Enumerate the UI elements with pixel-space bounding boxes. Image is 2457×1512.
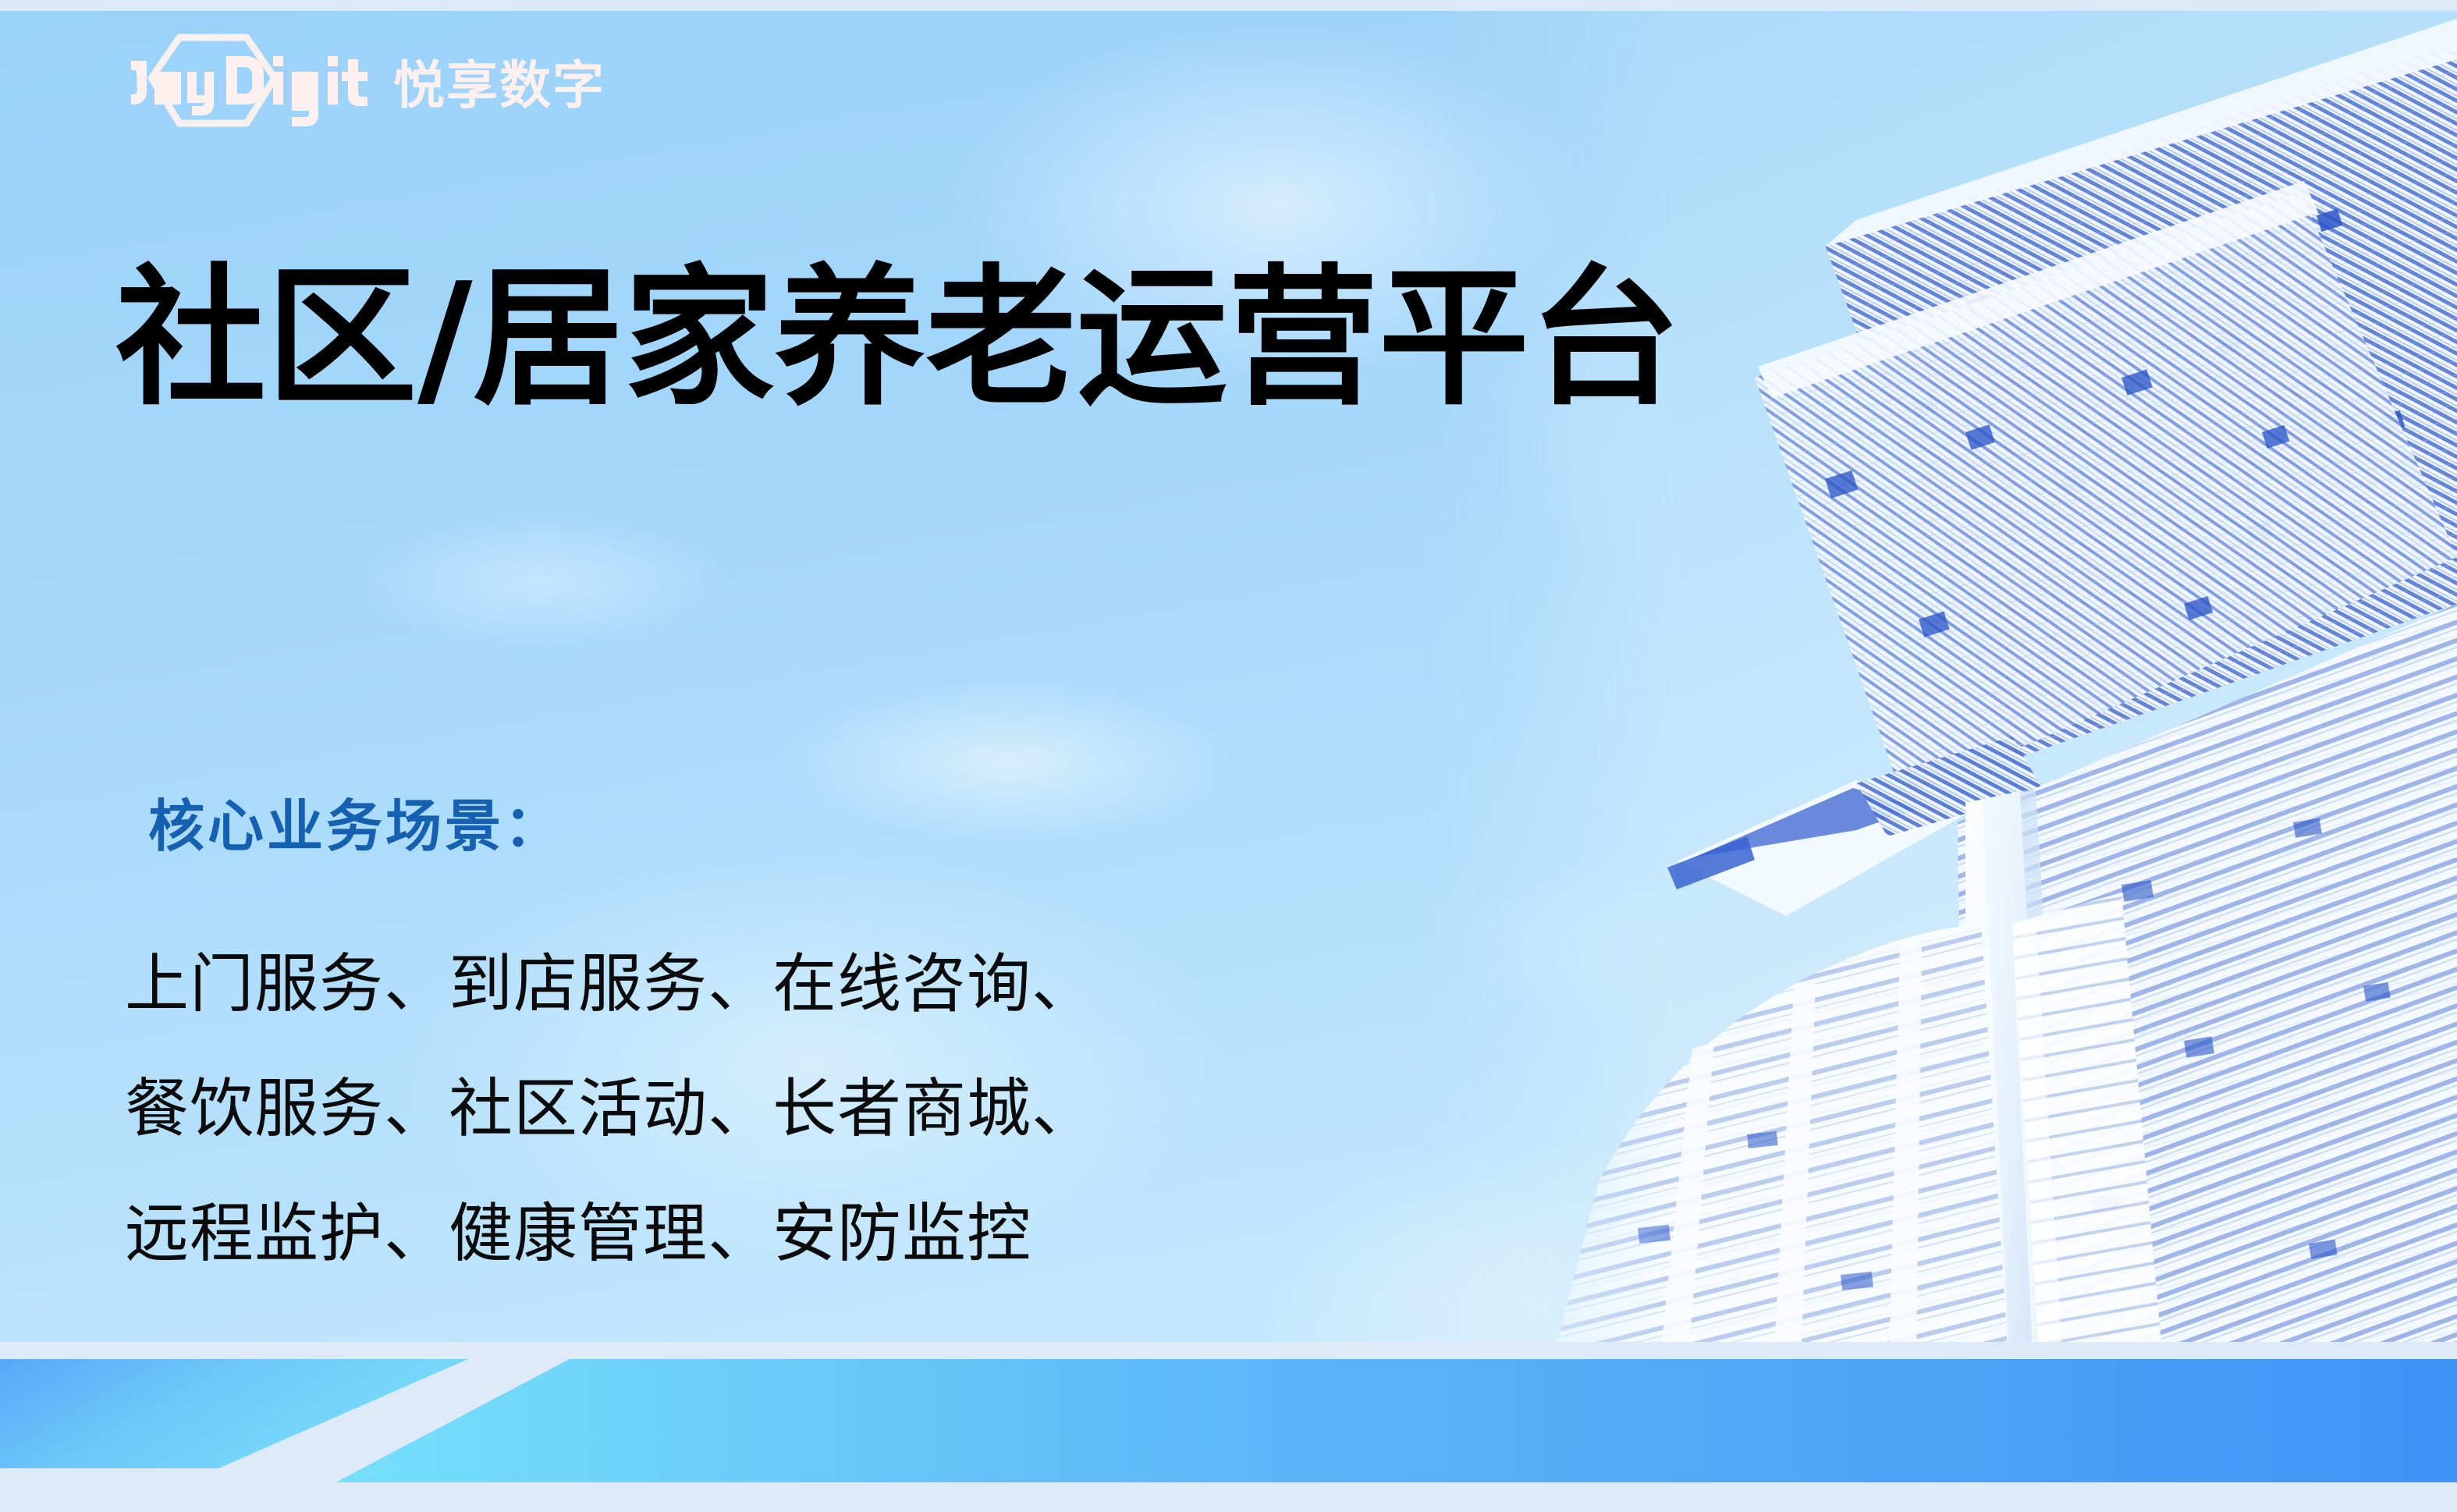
section-heading: 核心业务场景： [148, 780, 563, 862]
bottom-decor-band [0, 1342, 2457, 1512]
scenario-line: 远程监护、健康管理、安防监控 [125, 1172, 1096, 1297]
scenario-line: 上门服务、到店服务、在线咨询、 [125, 922, 1096, 1047]
page-title: 社区/居家养老运营平台 [115, 257, 1681, 420]
logo-wordmark-cn: 悦享数字 [393, 55, 605, 115]
scenario-list: 上门服务、到店服务、在线咨询、 餐饮服务、社区活动、长者商城、 远程监护、健康管… [125, 922, 1096, 1297]
brand-logo: 悦享数字 [131, 30, 646, 131]
office-towers-photo [1419, 11, 2457, 1423]
scenario-line: 餐饮服务、社区活动、长者商城、 [125, 1047, 1096, 1172]
slide-root: 悦享数字 社区/居家养老运营平台 核心业务场景： 上门服务、到店服务、在线咨询、… [0, 0, 2457, 1512]
top-accent-band [0, 0, 2457, 11]
